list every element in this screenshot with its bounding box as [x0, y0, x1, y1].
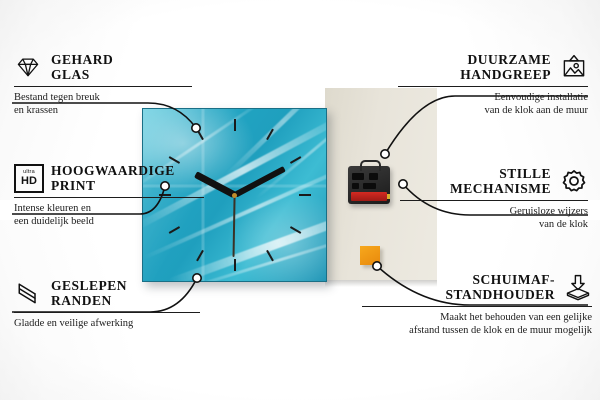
clock-tick [299, 194, 311, 196]
gear-icon [560, 167, 588, 195]
feature-divider [14, 197, 204, 198]
feature-hoogwaardige-print: ultra HD HOOGWAARDIGE PRINT Intense kleu… [14, 163, 204, 228]
movement-detail [352, 173, 364, 180]
feature-geslepen-randen: GESLEPEN RANDEN Gladde en veilige afwerk… [14, 278, 200, 331]
bevelled-edges-icon [14, 279, 42, 307]
clock-movement [348, 166, 390, 204]
product-infographic: GEHARD GLAS Bestand tegen breuk en krass… [0, 0, 600, 400]
feature-description: Bestand tegen breuk en krassen [14, 92, 192, 117]
feature-description: Geruisloze wijzers van de klok [400, 206, 588, 231]
feature-title: DUURZAME HANDGREEP [460, 52, 551, 82]
feature-header: GEHARD GLAS [14, 52, 192, 82]
feature-header: GESLEPEN RANDEN [14, 278, 200, 308]
feature-divider [398, 86, 588, 87]
clock-center-pin [232, 193, 237, 198]
feature-schuimaf-standhouder: SCHUIMAF- STANDHOUDER Maakt het behouden… [362, 272, 592, 337]
clock-tick [234, 259, 236, 271]
movement-detail [363, 183, 376, 189]
feature-duurzame-handgreep: DUURZAME HANDGREEP Eenvoudige installati… [398, 52, 588, 117]
press-pad-arrow-icon [564, 273, 592, 301]
feature-description: Maakt het behouden van een gelijke afsta… [362, 312, 592, 337]
feature-header: DUURZAME HANDGREEP [398, 52, 588, 82]
clock-tick [234, 119, 236, 131]
picture-frame-hanger-icon [560, 53, 588, 81]
feature-gehard-glas: GEHARD GLAS Bestand tegen breuk en krass… [14, 52, 192, 117]
movement-detail [369, 173, 378, 180]
battery [351, 192, 387, 201]
feature-stille-mechanisme: STILLE MECHANISME Geruisloze wijzers van… [400, 166, 588, 231]
feature-description: Intense kleuren en een duidelijk beeld [14, 203, 204, 228]
feature-title: STILLE MECHANISME [450, 166, 551, 196]
movement-hanger [360, 160, 381, 171]
feature-header: STILLE MECHANISME [400, 166, 588, 196]
feature-divider [14, 312, 200, 313]
feature-title: GESLEPEN RANDEN [51, 278, 127, 308]
feature-title: HOOGWAARDIGE PRINT [51, 163, 175, 193]
movement-detail [352, 183, 359, 189]
feature-divider [362, 306, 592, 307]
feature-description: Gladde en veilige afwerking [14, 318, 200, 331]
foam-spacer-pad [360, 246, 380, 265]
feature-divider [14, 86, 192, 87]
feature-title: SCHUIMAF- STANDHOUDER [445, 272, 555, 302]
ultra-hd-icon: ultra HD [14, 164, 42, 192]
feature-divider [400, 200, 588, 201]
feature-header: ultra HD HOOGWAARDIGE PRINT [14, 163, 204, 193]
feature-header: SCHUIMAF- STANDHOUDER [362, 272, 592, 302]
diamond-icon [14, 53, 42, 81]
feature-title: GEHARD GLAS [51, 52, 113, 82]
feature-description: Eenvoudige installatie van de klok aan d… [398, 92, 588, 117]
ultra-hd-icon-big-text: HD [21, 176, 37, 187]
